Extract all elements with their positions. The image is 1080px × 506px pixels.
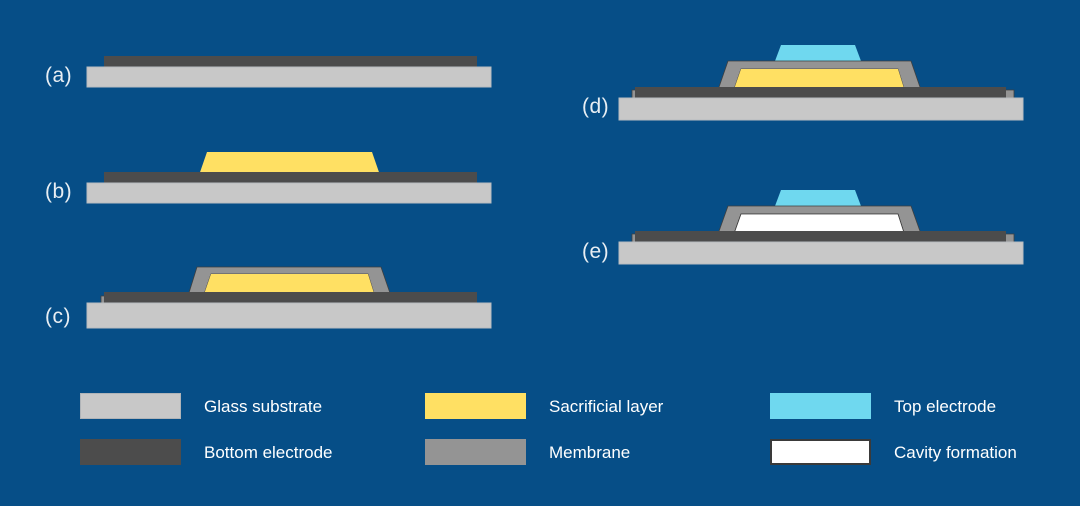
panel-label-a: (a) [45,65,72,86]
process-flow-figure: (a) (b) (c) (d) (e) Glass substrate Bott… [0,0,1080,506]
panel-b-glass-substrate [87,183,491,203]
panel-b-graphic [87,152,491,203]
color-swatch-glass-substrate [80,393,181,419]
panel-c-graphic [87,267,491,328]
legend-item-membrane: Membrane [425,437,630,467]
color-swatch-sacrificial-layer [425,393,526,419]
color-swatch-top-electrode [770,393,871,419]
color-swatch-bottom-electrode [80,439,181,465]
legend: Glass substrate Bottom electrode Sacrifi… [0,380,1080,480]
panel-a-glass-substrate [87,67,491,87]
panel-c-bottom-electrode [104,292,477,303]
panel-d-top-electrode [775,45,861,61]
legend-label-glass-substrate: Glass substrate [204,398,322,415]
panel-e-bottom-electrode [635,231,1006,242]
panel-d-graphic [619,45,1023,120]
legend-column-3: Top electrode Cavity formation [770,380,1080,480]
legend-label-membrane: Membrane [549,444,630,461]
legend-item-bottom-electrode: Bottom electrode [80,437,333,467]
legend-item-sacrificial-layer: Sacrificial layer [425,391,663,421]
panel-a-graphic [87,56,491,87]
legend-column-1: Glass substrate Bottom electrode [80,380,420,480]
panel-e-top-electrode [775,190,861,206]
legend-item-cavity-formation: Cavity formation [770,437,1017,467]
legend-label-bottom-electrode: Bottom electrode [204,444,333,461]
legend-label-sacrificial-layer: Sacrificial layer [549,398,663,415]
panel-a-bottom-electrode [104,56,477,67]
legend-item-glass-substrate: Glass substrate [80,391,322,421]
panel-label-c: (c) [45,306,71,327]
panel-e-glass-substrate [619,242,1023,264]
panel-d-bottom-electrode [635,87,1006,98]
legend-label-top-electrode: Top electrode [894,398,996,415]
legend-item-top-electrode: Top electrode [770,391,996,421]
legend-label-cavity-formation: Cavity formation [894,444,1017,461]
panel-label-e: (e) [582,241,609,262]
panel-c-glass-substrate [87,303,491,328]
color-swatch-cavity-formation [770,439,871,465]
panel-label-d: (d) [582,96,609,117]
panel-b-bottom-electrode [104,172,477,183]
color-swatch-membrane [425,439,526,465]
legend-column-2: Sacrificial layer Membrane [425,380,765,480]
panel-label-b: (b) [45,181,72,202]
panel-e-graphic [619,190,1023,264]
panel-d-glass-substrate [619,98,1023,120]
